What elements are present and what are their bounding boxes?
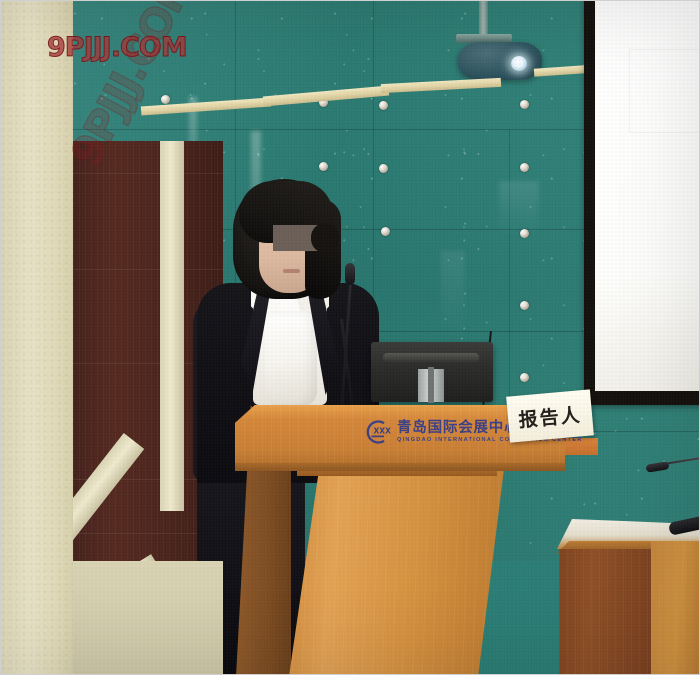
wall-stud [520, 373, 529, 382]
projection-screen-content [629, 49, 700, 133]
podium-microphone-head [345, 263, 355, 285]
conference-table-front [651, 541, 700, 675]
conference-presentation-photo: XXX 青岛国际会展中心 QINGDAO INTERNATIONAL CONVE… [0, 0, 700, 675]
monitor-vent [383, 353, 479, 362]
wall-seam [509, 129, 510, 429]
beige-pillar [1, 1, 73, 675]
presenter-name-card: 报告人 [506, 389, 594, 442]
wall-stud [379, 164, 388, 173]
projector-lens-light [511, 56, 527, 71]
wall-stud [319, 162, 328, 171]
podium-front-panel [289, 469, 504, 675]
pillar-cream-stripe [160, 141, 184, 511]
privacy-censor-bar [311, 223, 339, 253]
wall-stud [520, 229, 529, 238]
wood-panel-seam [73, 173, 223, 174]
wall-stud [381, 227, 390, 236]
qingdao-convention-center-logo-icon: XXX [364, 420, 391, 444]
wall-stud [161, 95, 170, 104]
ceiling-projector [458, 42, 542, 80]
presenter-name-card-text: 报告人 [517, 400, 582, 432]
wood-panel-seam [73, 269, 223, 270]
projector-mount-stem [479, 1, 488, 37]
wall-stud [520, 163, 529, 172]
wall-stud [520, 100, 529, 109]
speaker-mouth [283, 269, 300, 273]
wall-stud [379, 101, 388, 110]
floor-left [73, 561, 223, 675]
podium-lip [235, 463, 565, 471]
wall-seam [373, 1, 374, 341]
monitor-stand-column [428, 367, 434, 403]
conference-table-side [559, 549, 651, 675]
wall-stud [520, 301, 529, 310]
svg-text:XXX: XXX [374, 427, 392, 436]
speaker-scarf [265, 311, 317, 407]
